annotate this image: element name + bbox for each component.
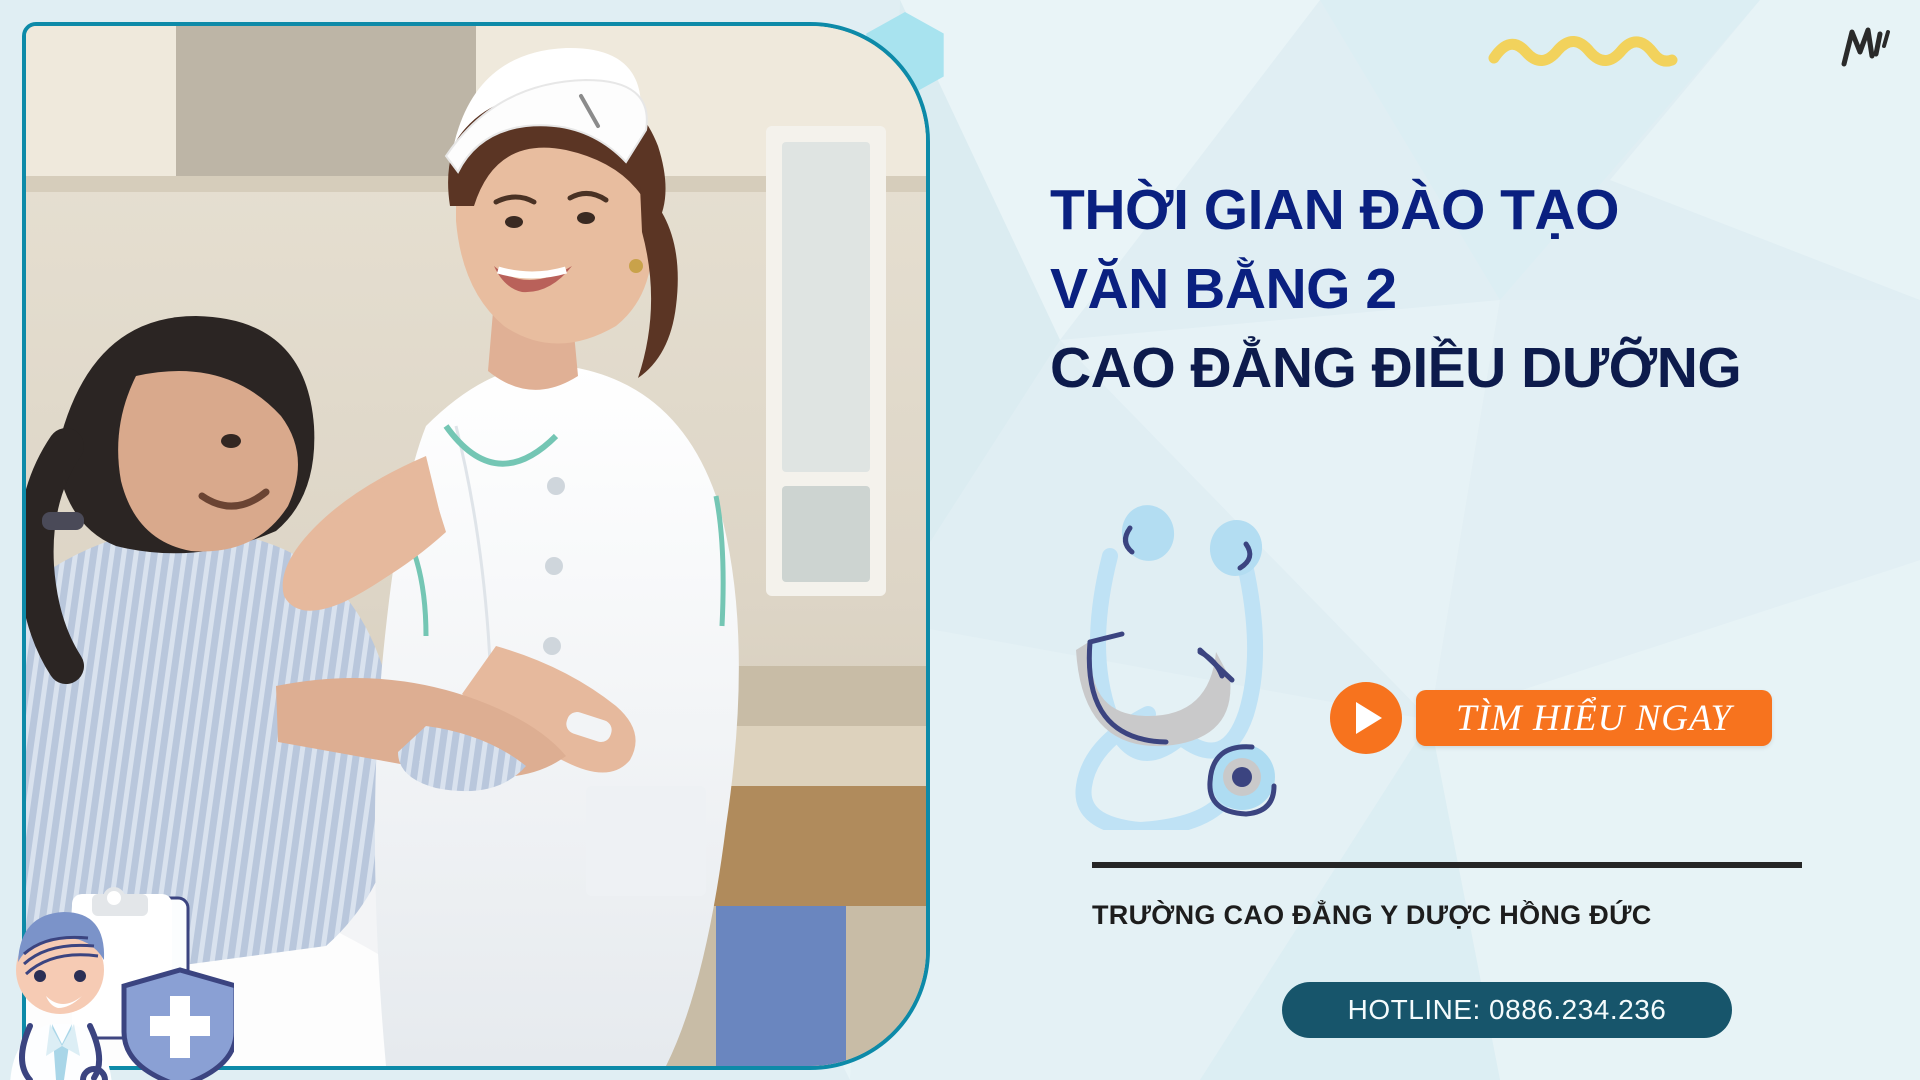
school-name: TRƯỜNG CAO ĐẲNG Y DƯỢC HỒNG ĐỨC xyxy=(1092,900,1652,931)
learn-more-button[interactable]: TÌM HIỂU NGAY xyxy=(1416,690,1772,746)
doctor-with-clipboard-icon xyxy=(0,880,234,1080)
hotline-badge[interactable]: HOTLINE: 0886.234.236 xyxy=(1282,982,1732,1038)
cta-group[interactable]: TÌM HIỂU NGAY xyxy=(1330,682,1772,754)
headline-line-1: THỜI GIAN ĐÀO TẠO xyxy=(1050,182,1910,239)
play-triangle-icon xyxy=(1356,702,1382,734)
stethoscope-icon xyxy=(1070,500,1400,830)
headline-line-3: CAO ĐẲNG ĐIỀU DƯỠNG xyxy=(1050,340,1910,397)
promo-banner: THỜI GIAN ĐÀO TẠO VĂN BẰNG 2 CAO ĐẲNG ĐI… xyxy=(0,0,1920,1080)
headline-line-2: VĂN BẰNG 2 xyxy=(1050,261,1910,318)
divider xyxy=(1092,862,1802,868)
play-button[interactable] xyxy=(1330,682,1402,754)
content-column: THỜI GIAN ĐÀO TẠO VĂN BẰNG 2 CAO ĐẲNG ĐI… xyxy=(1030,0,1920,1080)
page-title: THỜI GIAN ĐÀO TẠO VĂN BẰNG 2 CAO ĐẲNG ĐI… xyxy=(1050,182,1910,397)
